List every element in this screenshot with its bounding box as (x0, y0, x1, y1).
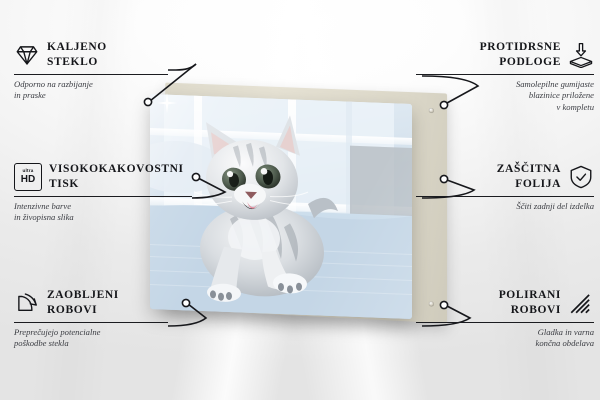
polished-edge-icon (568, 290, 594, 316)
divider (14, 322, 168, 323)
divider (14, 196, 192, 197)
feature-header: ultra HD VISOKOKAKOVOSTNI TISK (14, 162, 192, 192)
feature-polirani-robovi: POLIRANI ROBOVI Gladka in varna končna o… (416, 288, 594, 350)
feature-header: KALJENO STEKLO (14, 40, 192, 70)
feature-subtitle: Preprečujejo potencialne poškodbe stekla (14, 327, 192, 350)
feature-title: ZAŠČITNA FOLIJA (497, 162, 561, 192)
feature-title: KALJENO STEKLO (47, 40, 107, 70)
feature-visokokakovostni-tisk: ultra HD VISOKOKAKOVOSTNI TISK Intenzivn… (14, 162, 192, 224)
feature-subtitle: Samolepilne gumijaste blazinice priložen… (416, 79, 594, 113)
shield-check-icon (568, 164, 594, 190)
feature-kaljeno-steklo: KALJENO STEKLO Odporno na razbijanje in … (14, 40, 192, 102)
divider (14, 74, 168, 75)
feature-header: PROTIDRSNE PODLOGE (416, 40, 594, 70)
feature-header: ZAOBLJENI ROBOVI (14, 288, 192, 318)
feature-zaobljeni-robovi: ZAOBLJENI ROBOVI Preprečujejo potencialn… (14, 288, 192, 350)
feature-header: ZAŠČITNA FOLIJA (416, 162, 594, 192)
ultra-hd-icon: ultra HD (14, 163, 42, 191)
feature-title: PROTIDRSNE PODLOGE (480, 40, 561, 70)
divider (416, 74, 594, 75)
feature-subtitle: Gladka in varna končna obdelava (416, 327, 594, 350)
anti-slip-pad-icon (568, 42, 594, 68)
diamond-icon (14, 42, 40, 68)
feature-header: POLIRANI ROBOVI (416, 288, 594, 318)
feature-zascitna-folija: ZAŠČITNA FOLIJA Ščiti zadnji del izdelka (416, 162, 594, 212)
feature-title: VISOKOKAKOVOSTNI TISK (49, 162, 184, 192)
feature-title: POLIRANI ROBOVI (499, 288, 561, 318)
divider (416, 196, 594, 197)
infographic-canvas: KALJENO STEKLO Odporno na razbijanje in … (0, 0, 600, 400)
feature-title: ZAOBLJENI ROBOVI (47, 288, 119, 318)
divider (416, 322, 594, 323)
feature-subtitle: Ščiti zadnji del izdelka (416, 201, 594, 212)
feature-subtitle: Intenzivne barve in živopisna slika (14, 201, 192, 224)
product-image-group (150, 88, 450, 323)
feature-subtitle: Odporno na razbijanje in praske (14, 79, 192, 102)
rounded-corner-icon (14, 290, 40, 316)
feature-protidrsne-podloge: PROTIDRSNE PODLOGE Samolepilne gumijaste… (416, 40, 594, 113)
